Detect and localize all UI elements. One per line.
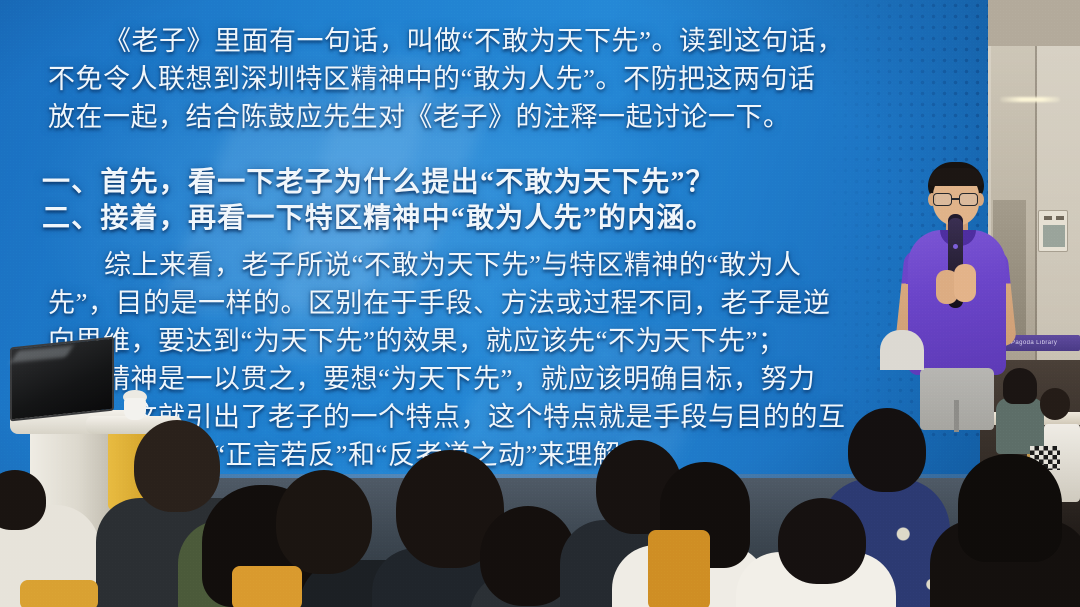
panel-button	[1044, 216, 1052, 220]
chair-back	[232, 566, 302, 607]
glasses-bridge	[952, 198, 959, 200]
ceiling-light-strip	[1000, 97, 1060, 102]
audience-head	[134, 420, 220, 512]
audience-head	[276, 470, 372, 574]
panel-display	[1043, 225, 1065, 247]
audience-shoulders	[880, 330, 924, 370]
slide-paragraph1-line2: 不免令人联想到深圳特区精神中的“敢为人先”。不防把这两句话	[48, 66, 815, 93]
lecture-hall-photo: 《老子》里面有一句话，叫做“不敢为天下先”。读到这句话， 不免令人联想到深圳特区…	[0, 0, 1080, 607]
wall-soffit	[988, 0, 1080, 46]
audience-head	[778, 498, 866, 584]
slide-paragraph2-line2: 先”，目的是一样的。区别在于手段、方法或过程不同，老子是逆	[48, 290, 830, 317]
slide-heading-2: 二、接着，再看一下特区精神中“敢为人先”的内涵。	[42, 196, 715, 236]
chair-back	[20, 580, 98, 607]
speaker-right-hand	[954, 264, 976, 302]
slide-paragraph2-line3: 向思维，要达到“为天下先”的效果，就应该先“不为天下先”；	[48, 328, 785, 355]
audience-head	[958, 454, 1062, 562]
glasses-icon	[933, 193, 952, 206]
slide-heading-1: 一、首先，看一下老子为什么提出“不敢为天下先”？	[42, 160, 715, 200]
glasses-icon	[959, 193, 978, 206]
slide-paragraph2-line4: 特区精神是一以贯之，要想“为天下先”，就应该明确目标，努力	[48, 366, 815, 393]
audience-head	[848, 408, 926, 492]
speaker-leg-gap	[954, 400, 959, 432]
wall-control-panel	[1038, 210, 1068, 252]
panel-button	[1056, 216, 1064, 220]
slide-paragraph1-line1: 《老子》里面有一句话，叫做“不敢为天下先”。读到这句话，	[104, 28, 844, 55]
slide-paragraph1-line3: 放在一起，结合陈鼓应先生对《老子》的注释一起讨论一下。	[48, 104, 791, 131]
microphone-logo	[953, 244, 958, 249]
back-person-head	[1040, 388, 1070, 420]
slide-paragraph2-line1: 综上来看，老子所说“不敢为天下先”与特区精神的“敢为人	[104, 252, 801, 279]
speaker-fringe	[929, 168, 983, 186]
chair-back	[648, 530, 710, 607]
paper-cup	[124, 398, 146, 420]
